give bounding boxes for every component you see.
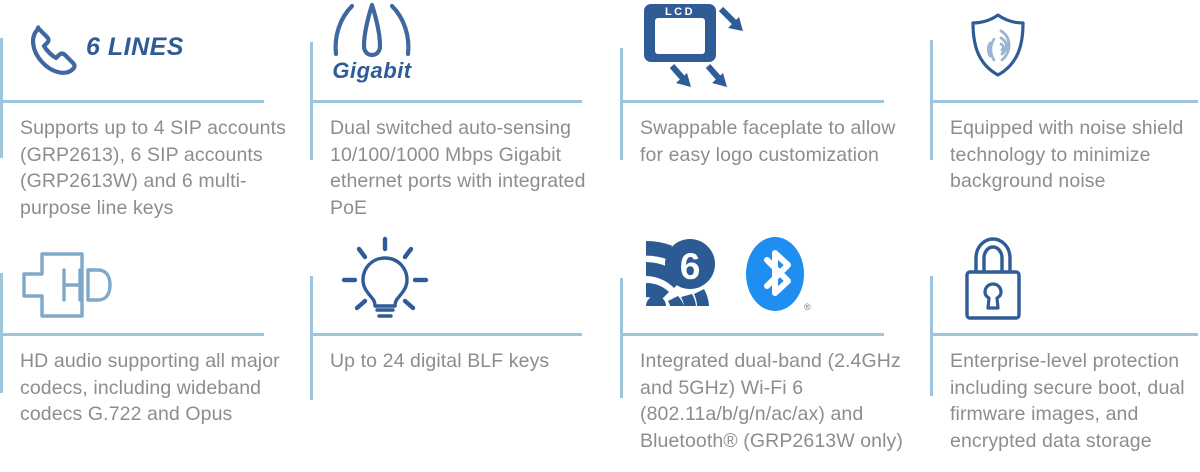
feature-description: Swappable faceplate to allow for easy lo… bbox=[640, 115, 908, 168]
cell-divider-rule bbox=[930, 100, 1198, 103]
hd-speaker-icon bbox=[18, 246, 130, 324]
security-icon-group bbox=[960, 236, 1026, 322]
feature-description: Enterprise-level protection including se… bbox=[950, 348, 1200, 454]
cell-accent-rule bbox=[620, 278, 623, 398]
feature-description: Equipped with noise shield technology to… bbox=[950, 115, 1200, 195]
bluetooth-icon: ® bbox=[744, 236, 810, 314]
feature-description: Supports up to 4 SIP accounts (GRP2613),… bbox=[20, 115, 302, 221]
six-lines-icon-group: 6 LINES bbox=[26, 20, 184, 78]
wireless-icon-group: 6 ® bbox=[642, 236, 810, 314]
feature-cell-security: Enterprise-level protection including se… bbox=[930, 236, 1200, 472]
registered-mark: ® bbox=[804, 302, 811, 312]
wifi-6-icon: 6 bbox=[642, 236, 722, 314]
cell-accent-rule bbox=[0, 38, 3, 158]
feature-cell-gigabit: Gigabit Dual switched auto-sensing 10/10… bbox=[310, 0, 610, 236]
cell-accent-rule bbox=[310, 276, 313, 400]
cell-divider-rule bbox=[0, 100, 264, 103]
six-lines-wordmark: 6 LINES bbox=[86, 33, 184, 62]
wifi-6-numeral: 6 bbox=[680, 246, 701, 287]
feature-cell-blf-keys: Up to 24 digital BLF keys bbox=[310, 236, 610, 472]
lightbulb-icon bbox=[338, 236, 432, 324]
feature-description: Dual switched auto-sensing 10/100/1000 M… bbox=[330, 115, 606, 221]
phone-handset-icon bbox=[26, 20, 80, 78]
feature-cell-hd-audio: HD audio supporting all major codecs, in… bbox=[0, 236, 300, 472]
feature-description: Integrated dual-band (2.4GHz and 5GHz) W… bbox=[640, 348, 912, 454]
shield-noise-icon bbox=[968, 12, 1028, 78]
feature-cell-swappable-faceplate: LCD Swappable faceplate to allow for eas… bbox=[620, 0, 920, 236]
feature-cell-wifi-bluetooth: 6 ® Integrated dual-band (2.4GHz and 5GH… bbox=[620, 236, 920, 472]
padlock-icon bbox=[960, 236, 1026, 322]
feature-cell-noise-shield: Equipped with noise shield technology to… bbox=[930, 0, 1200, 236]
cell-divider-rule bbox=[620, 333, 884, 336]
lcd-icon-group: LCD bbox=[642, 2, 748, 88]
cell-accent-rule bbox=[620, 48, 623, 160]
cell-divider-rule bbox=[310, 100, 582, 103]
cell-divider-rule bbox=[620, 100, 884, 103]
blf-icon-group bbox=[338, 236, 432, 324]
gigabit-wordmark: Gigabit bbox=[332, 58, 411, 84]
feature-description: Up to 24 digital BLF keys bbox=[330, 348, 606, 375]
cell-accent-rule bbox=[930, 276, 933, 396]
lcd-label: LCD bbox=[665, 6, 695, 18]
cell-divider-rule bbox=[310, 333, 582, 336]
cell-divider-rule bbox=[0, 333, 264, 336]
feature-description: HD audio supporting all major codecs, in… bbox=[20, 348, 302, 428]
cell-divider-rule bbox=[930, 333, 1198, 336]
shield-icon-group bbox=[968, 12, 1028, 78]
gigabit-network-icon bbox=[326, 2, 418, 56]
feature-grid: 6 LINES Supports up to 4 SIP accounts (G… bbox=[0, 0, 1200, 472]
lcd-faceplate-icon: LCD bbox=[642, 2, 748, 88]
hd-audio-icon-group bbox=[18, 246, 130, 324]
gigabit-icon-group: Gigabit bbox=[326, 2, 418, 84]
feature-cell-six-lines: 6 LINES Supports up to 4 SIP accounts (G… bbox=[0, 0, 300, 236]
